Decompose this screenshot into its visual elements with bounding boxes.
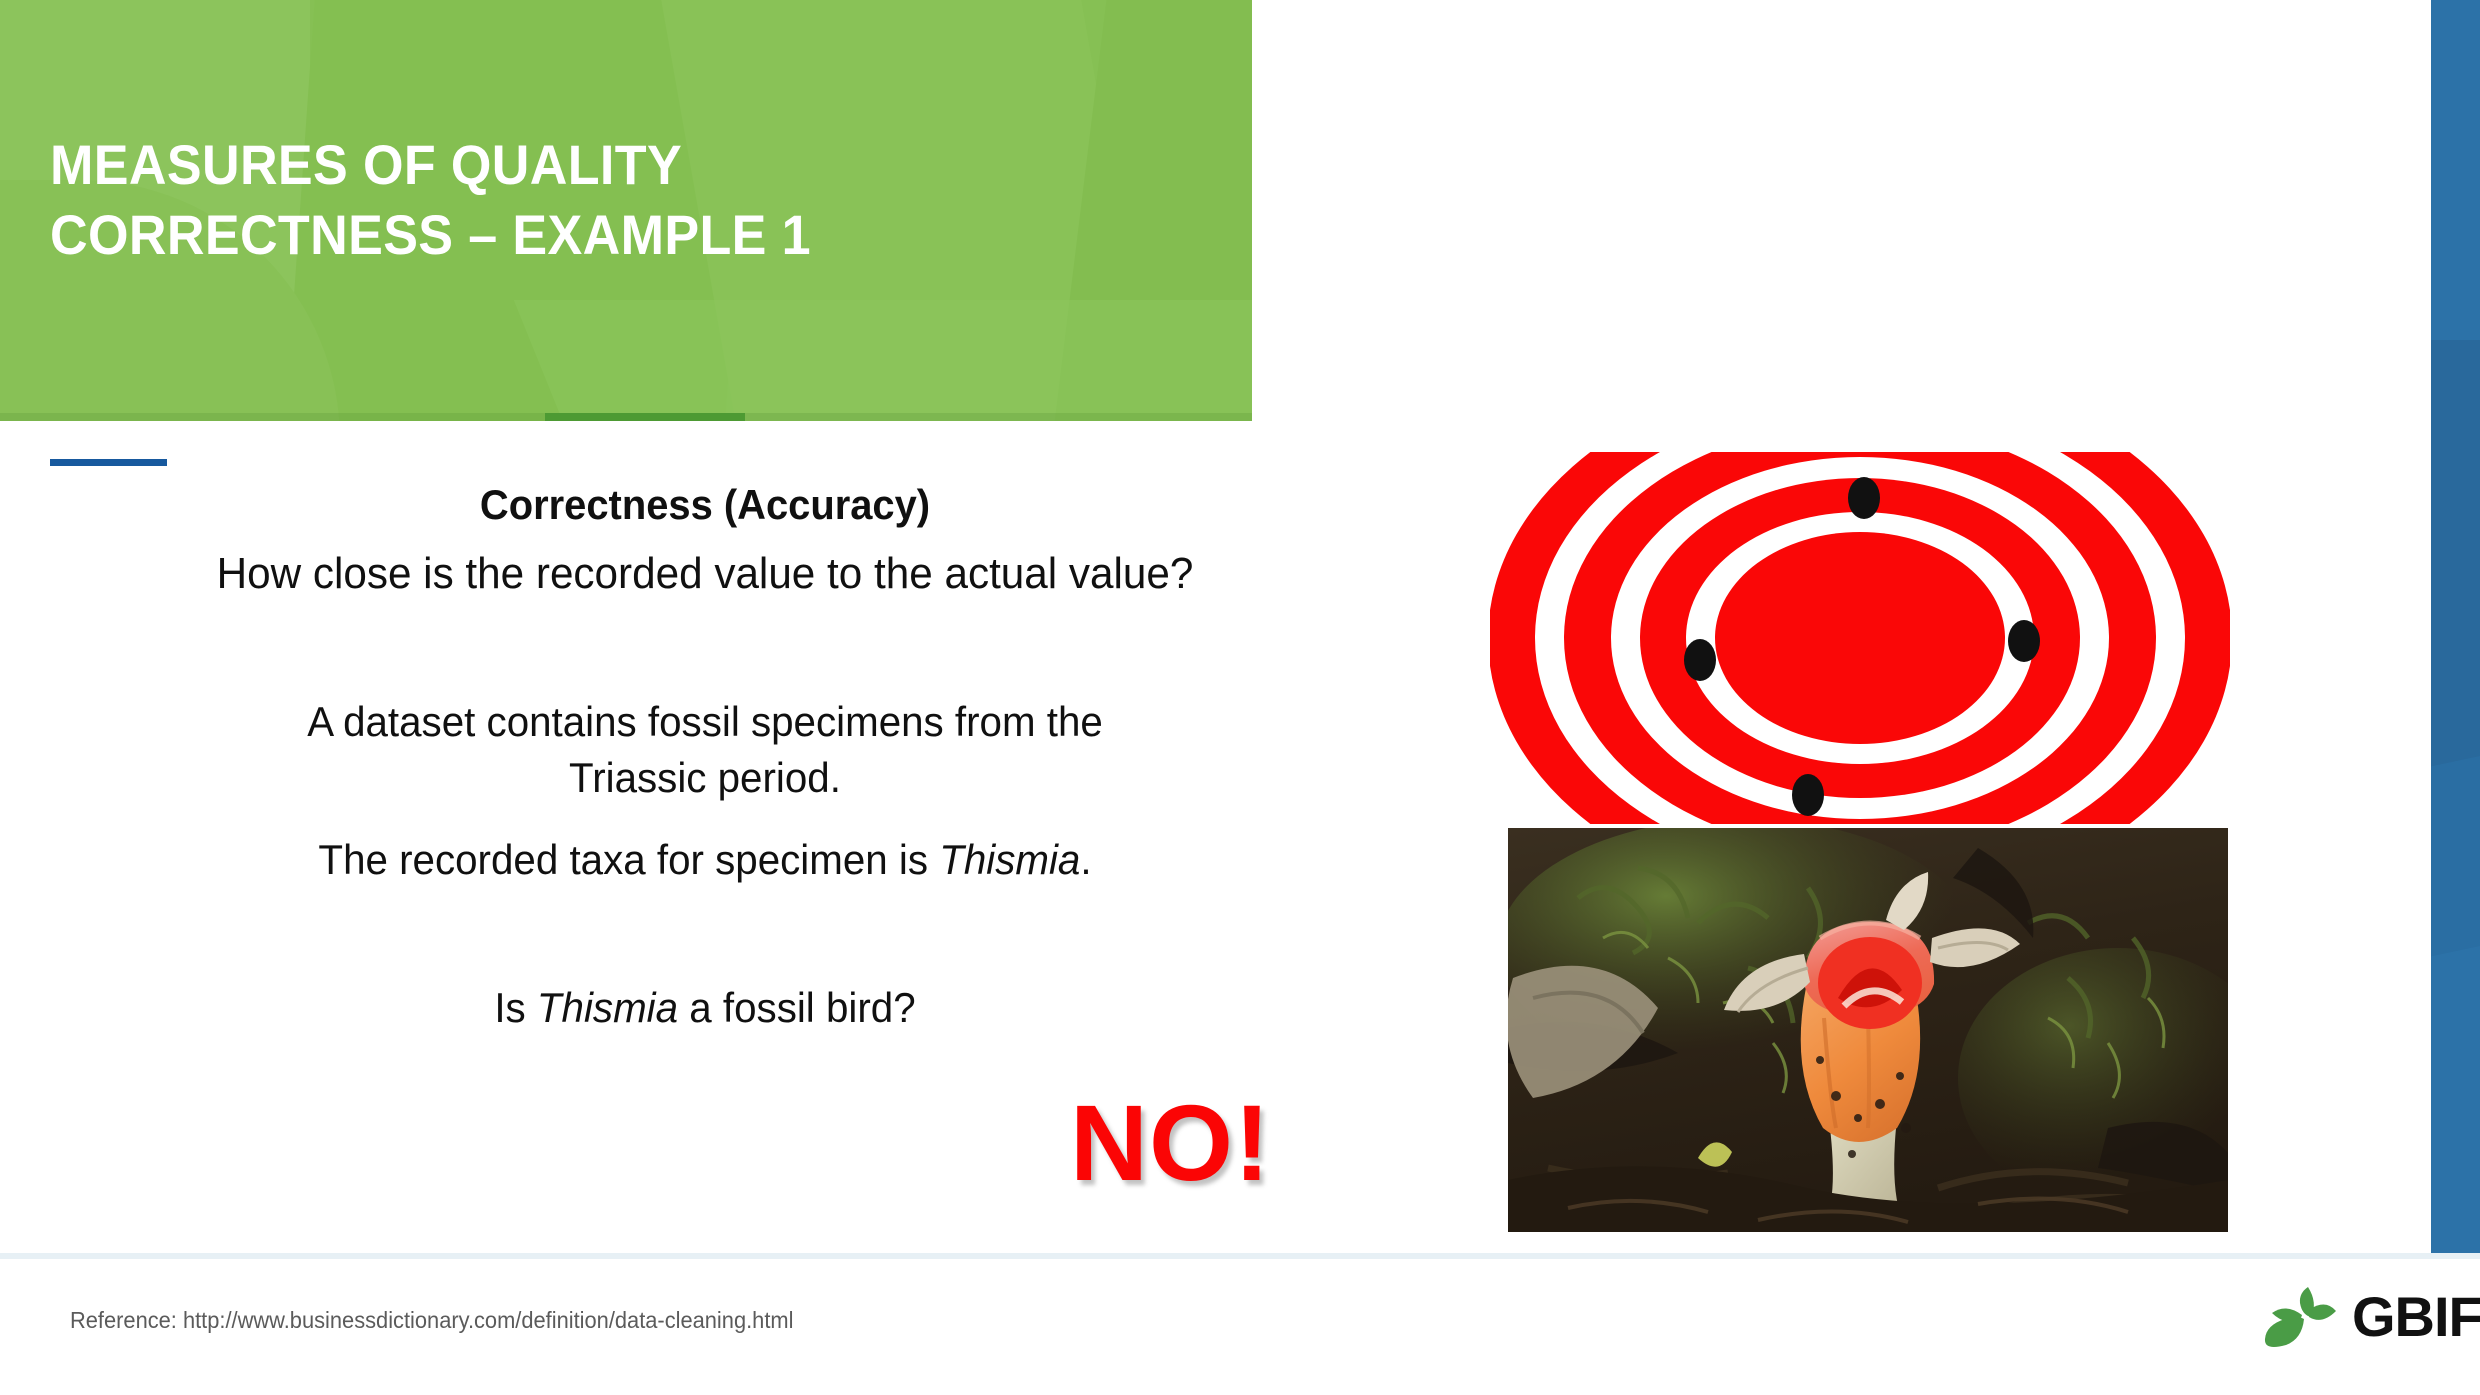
spacer	[40, 888, 1370, 980]
gbif-wordmark: GBIF	[2352, 1289, 2480, 1345]
paragraph-taxa-genus: Thismia	[939, 836, 1080, 883]
paragraph-question: Is Thismia a fossil bird?	[67, 980, 1344, 1036]
paragraph-taxa-prefix: The recorded taxa for specimen is	[318, 836, 939, 883]
target-dot	[1792, 774, 1824, 816]
title-panel-facet	[514, 300, 1252, 421]
target-ring-bullseye	[1715, 532, 2005, 744]
gbif-leaf-icon	[2264, 1285, 2338, 1349]
slide-title: MEASURES OF QUALITY CORRECTNESS – EXAMPL…	[50, 130, 1092, 270]
spacer	[40, 806, 1370, 832]
lead-question: How close is the recorded value to the a…	[67, 546, 1344, 602]
footer-reference: Reference: http://www.businessdictionary…	[70, 1307, 793, 1334]
accent-dash	[50, 459, 167, 466]
question-prefix: Is	[494, 984, 537, 1031]
gbif-logo: GBIF	[2264, 1285, 2480, 1349]
subheading: Correctness (Accuracy)	[73, 478, 1337, 532]
title-panel-base-accent	[545, 413, 745, 421]
slide: MEASURES OF QUALITY CORRECTNESS – EXAMPL…	[0, 0, 2480, 1395]
footer-divider	[0, 1253, 2480, 1259]
paragraph-taxa-suffix: .	[1080, 836, 1091, 883]
sidebar-accent-bar	[2431, 0, 2480, 1253]
paragraph-dataset: A dataset contains fossil specimens from…	[67, 694, 1344, 806]
sidebar-facet	[2431, 751, 2480, 958]
body-text-column: Correctness (Accuracy) How close is the …	[40, 478, 1370, 1036]
thismia-photo	[1508, 828, 2228, 1232]
target-dot	[1684, 639, 1716, 681]
target-dot	[1848, 477, 1880, 519]
question-genus: Thismia	[537, 984, 678, 1031]
target-rings	[1490, 452, 2230, 824]
paragraph-taxa: The recorded taxa for specimen is Thismi…	[67, 832, 1344, 888]
question-suffix: a fossil bird?	[678, 984, 916, 1031]
answer-no: NO!	[1070, 1080, 1271, 1205]
spacer	[40, 602, 1370, 694]
target-dot	[2008, 620, 2040, 662]
target-graphic	[1490, 452, 2230, 824]
